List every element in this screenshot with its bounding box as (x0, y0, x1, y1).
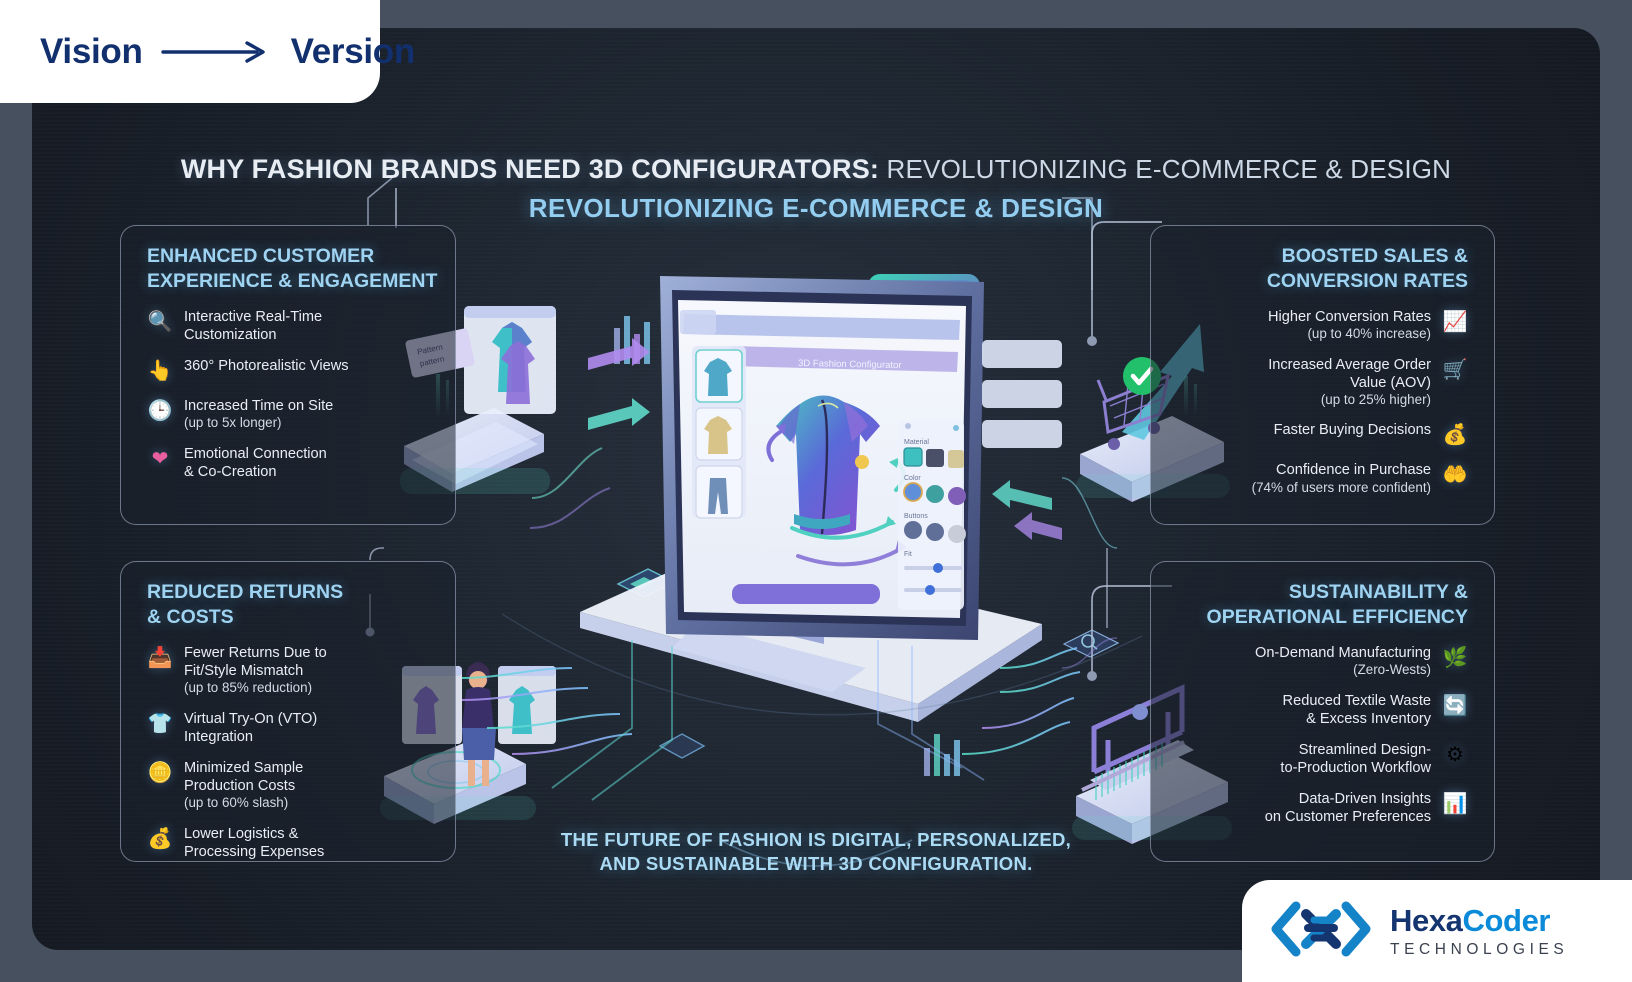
list-item[interactable]: 📈 Higher Conversion Rates (up to 40% inc… (1151, 308, 1494, 343)
floating-search-icon (1064, 630, 1118, 657)
list-item[interactable]: 🪙 Minimized Sample Production Costs (up … (121, 759, 455, 812)
footer-tagline: THE FUTURE OF FASHION IS DIGITAL, PERSON… (32, 828, 1600, 876)
footer-line1: THE FUTURE OF FASHION IS DIGITAL, PERSON… (32, 828, 1600, 852)
leaf-icon: 🌿 (1442, 645, 1468, 671)
heart-icon: ❤ (147, 446, 173, 472)
list-item[interactable]: ⚙ Streamlined Design- to-Production Work… (1151, 741, 1494, 777)
list-item-line2: & Excess Inventory (1306, 711, 1431, 727)
infographic-root: Pattern pattern (0, 0, 1632, 982)
list-item-sub: (up to 85% reduction) (184, 680, 327, 697)
list-item-sub: (74% of users more confident) (1252, 480, 1431, 497)
list-item-line1: Higher Conversion Rates (1268, 309, 1431, 325)
list-item[interactable]: 📊 Data-Driven Insights on Customer Prefe… (1151, 790, 1494, 826)
list-item-line1: Reduced Textile Waste (1283, 693, 1431, 709)
list-item-line2: Value (AOV) (1350, 375, 1431, 391)
svg-text:Color: Color (904, 475, 921, 482)
page-subtitle: REVOLUTIONIZING E-COMMERCE & DESIGN (32, 193, 1600, 224)
card-enhanced-customer-experience: ENHANCED CUSTOMER EXPERIENCE & ENGAGEMEN… (120, 225, 456, 525)
list-item[interactable]: 🔄 Reduced Textile Waste & Excess Invento… (1151, 692, 1494, 728)
flow-arrows-left (588, 338, 650, 430)
monitor-window-title: 3D Fashion Configurator (798, 358, 902, 371)
list-item-line1: Increased Time on Site (184, 398, 333, 414)
list-item-line2: Production Costs (184, 778, 295, 794)
side-browser-card-right (982, 340, 1062, 448)
list-item-line1: Faster Buying Decisions (1274, 421, 1431, 439)
logo-tagline: TECHNOLOGIES (1390, 942, 1568, 958)
list-item[interactable]: 👆 360° Photorealistic Views (121, 357, 455, 384)
list-item-line1: Interactive Real-Time (184, 309, 322, 325)
card-boosted-sales-conversion: BOOSTED SALES & CONVERSION RATES 📈 Highe… (1150, 225, 1495, 525)
card-heading: REDUCED RETURNS & COSTS (121, 562, 455, 630)
list-item-line2: & Co-Creation (184, 464, 276, 480)
svg-text:Fit: Fit (904, 551, 912, 558)
list-item-line1: Data-Driven Insights (1299, 791, 1431, 807)
list-item-line1: Increased Average Order (1268, 357, 1431, 373)
hand-money-icon: 🤲 (1442, 462, 1468, 488)
list-item[interactable]: ❤ Emotional Connection & Co-Creation (121, 445, 455, 481)
version-word: Version (291, 32, 415, 72)
gear-icon: ⚙ (1442, 742, 1468, 768)
list-item[interactable]: 🤲 Confidence in Purchase (74% of users m… (1151, 461, 1494, 496)
shirt-crossed-out-icon: 👕 (147, 711, 173, 737)
list-item-line1: Minimized Sample (184, 760, 303, 776)
svg-text:Material: Material (904, 439, 929, 446)
list-item-line2: to-Production Workflow (1280, 760, 1431, 776)
list-item-line1: On-Demand Manufacturing (1255, 645, 1431, 661)
benefit-list: 📈 Higher Conversion Rates (up to 40% inc… (1151, 308, 1494, 496)
recycle-arrows-icon: 🔄 (1442, 693, 1468, 719)
magnifier-icon: 🔍 (147, 309, 173, 335)
card-heading: SUSTAINABILITY & OPERATIONAL EFFICIENCY (1151, 562, 1494, 630)
clock-icon: 🕒 (147, 398, 173, 424)
list-item-sub: (up to 25% higher) (1268, 392, 1431, 409)
side-browser-card-left (680, 310, 716, 334)
list-item[interactable]: 👕 Virtual Try-On (VTO) Integration (121, 710, 455, 746)
benefit-list: 🔍 Interactive Real-Time Customization 👆 … (121, 308, 455, 481)
list-item-sub: (up to 40% increase) (1268, 326, 1431, 343)
list-item-sub: (up to 60% slash) (184, 795, 303, 812)
list-item-line1: 360° Photorealistic Views (184, 357, 349, 375)
list-item[interactable]: 📥 Fewer Returns Due to Fit/Style Mismatc… (121, 644, 455, 697)
list-item-sub: (Zero-Wests) (1255, 662, 1431, 679)
tap-hand-icon: 👆 (147, 358, 173, 384)
card-reduced-returns-costs: REDUCED RETURNS & COSTS 📥 Fewer Returns … (120, 561, 456, 862)
list-item-line1: Confidence in Purchase (1276, 462, 1431, 478)
logo-text: HexaCoder TECHNOLOGIES (1390, 905, 1568, 958)
flow-arrows-right (992, 480, 1062, 540)
list-item[interactable]: 💰 Faster Buying Decisions (1151, 421, 1494, 448)
arrow-right-icon (161, 40, 273, 64)
vision-word: Vision (40, 32, 143, 72)
list-item-line1: Emotional Connection (184, 446, 327, 462)
hexacoder-hex-icon (1268, 898, 1374, 965)
footer-line2: AND SUSTAINABLE WITH 3D CONFIGURATION. (32, 852, 1600, 876)
list-item-line2: Integration (184, 729, 253, 745)
infographic-board: Pattern pattern (32, 28, 1600, 950)
card-heading: BOOSTED SALES & CONVERSION RATES (1151, 226, 1494, 294)
floating-chart-bars-2 (924, 734, 960, 776)
list-item-line2: Customization (184, 327, 276, 343)
list-item[interactable]: 🌿 On-Demand Manufacturing (Zero-Wests) (1151, 644, 1494, 679)
shopping-cart-check-icon: 🛒 (1442, 357, 1468, 383)
benefit-list: 🌿 On-Demand Manufacturing (Zero-Wests) 🔄… (1151, 644, 1494, 826)
list-item-line1: Fewer Returns Due to (184, 645, 327, 661)
list-item[interactable]: 🛒 Increased Average Order Value (AOV) (u… (1151, 356, 1494, 409)
bar-chart-icon: 📊 (1442, 791, 1468, 817)
list-item-line1: Streamlined Design- (1299, 742, 1431, 758)
page-title: WHY FASHION BRANDS NEED 3D CONFIGURATORS… (32, 154, 1600, 185)
card-heading: ENHANCED CUSTOMER EXPERIENCE & ENGAGEMEN… (121, 226, 455, 294)
page-title-bold: WHY FASHION BRANDS NEED 3D CONFIGURATORS… (181, 154, 879, 184)
svg-text:Buttons: Buttons (904, 513, 928, 520)
trend-up-arrow-icon: 📈 (1442, 309, 1468, 335)
list-item-line2: Fit/Style Mismatch (184, 663, 303, 679)
money-bag-icon: 💰 (1442, 422, 1468, 448)
download-tray-icon: 📥 (147, 645, 173, 671)
list-item-line2: on Customer Preferences (1265, 809, 1431, 825)
list-item-line1: Virtual Try-On (VTO) (184, 711, 317, 727)
floating-diamond-icon (660, 734, 704, 758)
hexacoder-logo[interactable]: HexaCoder TECHNOLOGIES (1242, 880, 1632, 982)
list-item[interactable]: 🔍 Interactive Real-Time Customization (121, 308, 455, 344)
list-item-sub: (up to 5x longer) (184, 415, 333, 432)
page-title-light: REVOLUTIONIZING E-COMMERCE & DESIGN (879, 154, 1451, 184)
vision-version-tab[interactable]: Vision Version (0, 0, 380, 103)
logo-name-part2: Coder (1463, 903, 1551, 938)
coins-stack-icon: 🪙 (147, 760, 173, 786)
list-item[interactable]: 🕒 Increased Time on Site (up to 5x longe… (121, 397, 455, 432)
card-sustainability-operational-efficiency: SUSTAINABILITY & OPERATIONAL EFFICIENCY … (1150, 561, 1495, 862)
logo-name-part1: Hexa (1390, 903, 1463, 938)
